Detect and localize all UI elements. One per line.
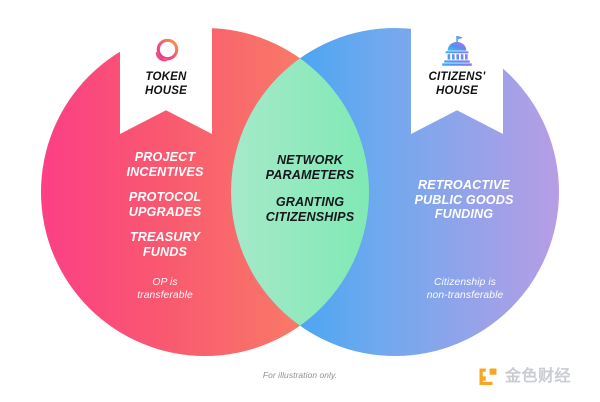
token-house-item-list: PROJECT INCENTIVES PROTOCOL UPGRADES TRE…: [95, 150, 235, 260]
list-item: GRANTING CITIZENSHIPS: [244, 195, 376, 224]
banner-token-house-label: TOKEN HOUSE: [120, 71, 212, 98]
list-item: PROTOCOL UPGRADES: [95, 190, 235, 219]
list-item: RETROACTIVE PUBLIC GOODS FUNDING: [388, 178, 540, 222]
list-item: NETWORK PARAMETERS: [244, 153, 376, 182]
capitol-building-icon: [411, 34, 503, 68]
list-item: PROJECT INCENTIVES: [95, 150, 235, 179]
citizens-house-item-list: RETROACTIVE PUBLIC GOODS FUNDING: [388, 178, 540, 222]
list-item: TREASURY FUNDS: [95, 230, 235, 259]
overlap-item-list: NETWORK PARAMETERS GRANTING CITIZENSHIPS: [244, 153, 376, 224]
citizens-house-note: Citizenship is non-transferable: [396, 277, 534, 302]
diagram-canvas: TOKEN HOUSE: [0, 0, 600, 402]
optimism-ring-icon: [120, 34, 212, 68]
watermark-text: 金色财经: [505, 369, 571, 385]
jinse-square-logo-icon: [477, 366, 499, 388]
watermark: 金色财经: [477, 366, 571, 388]
token-house-note: OP is transferable: [100, 277, 230, 302]
banner-citizens-house-label: CITIZENS' HOUSE: [411, 71, 503, 98]
